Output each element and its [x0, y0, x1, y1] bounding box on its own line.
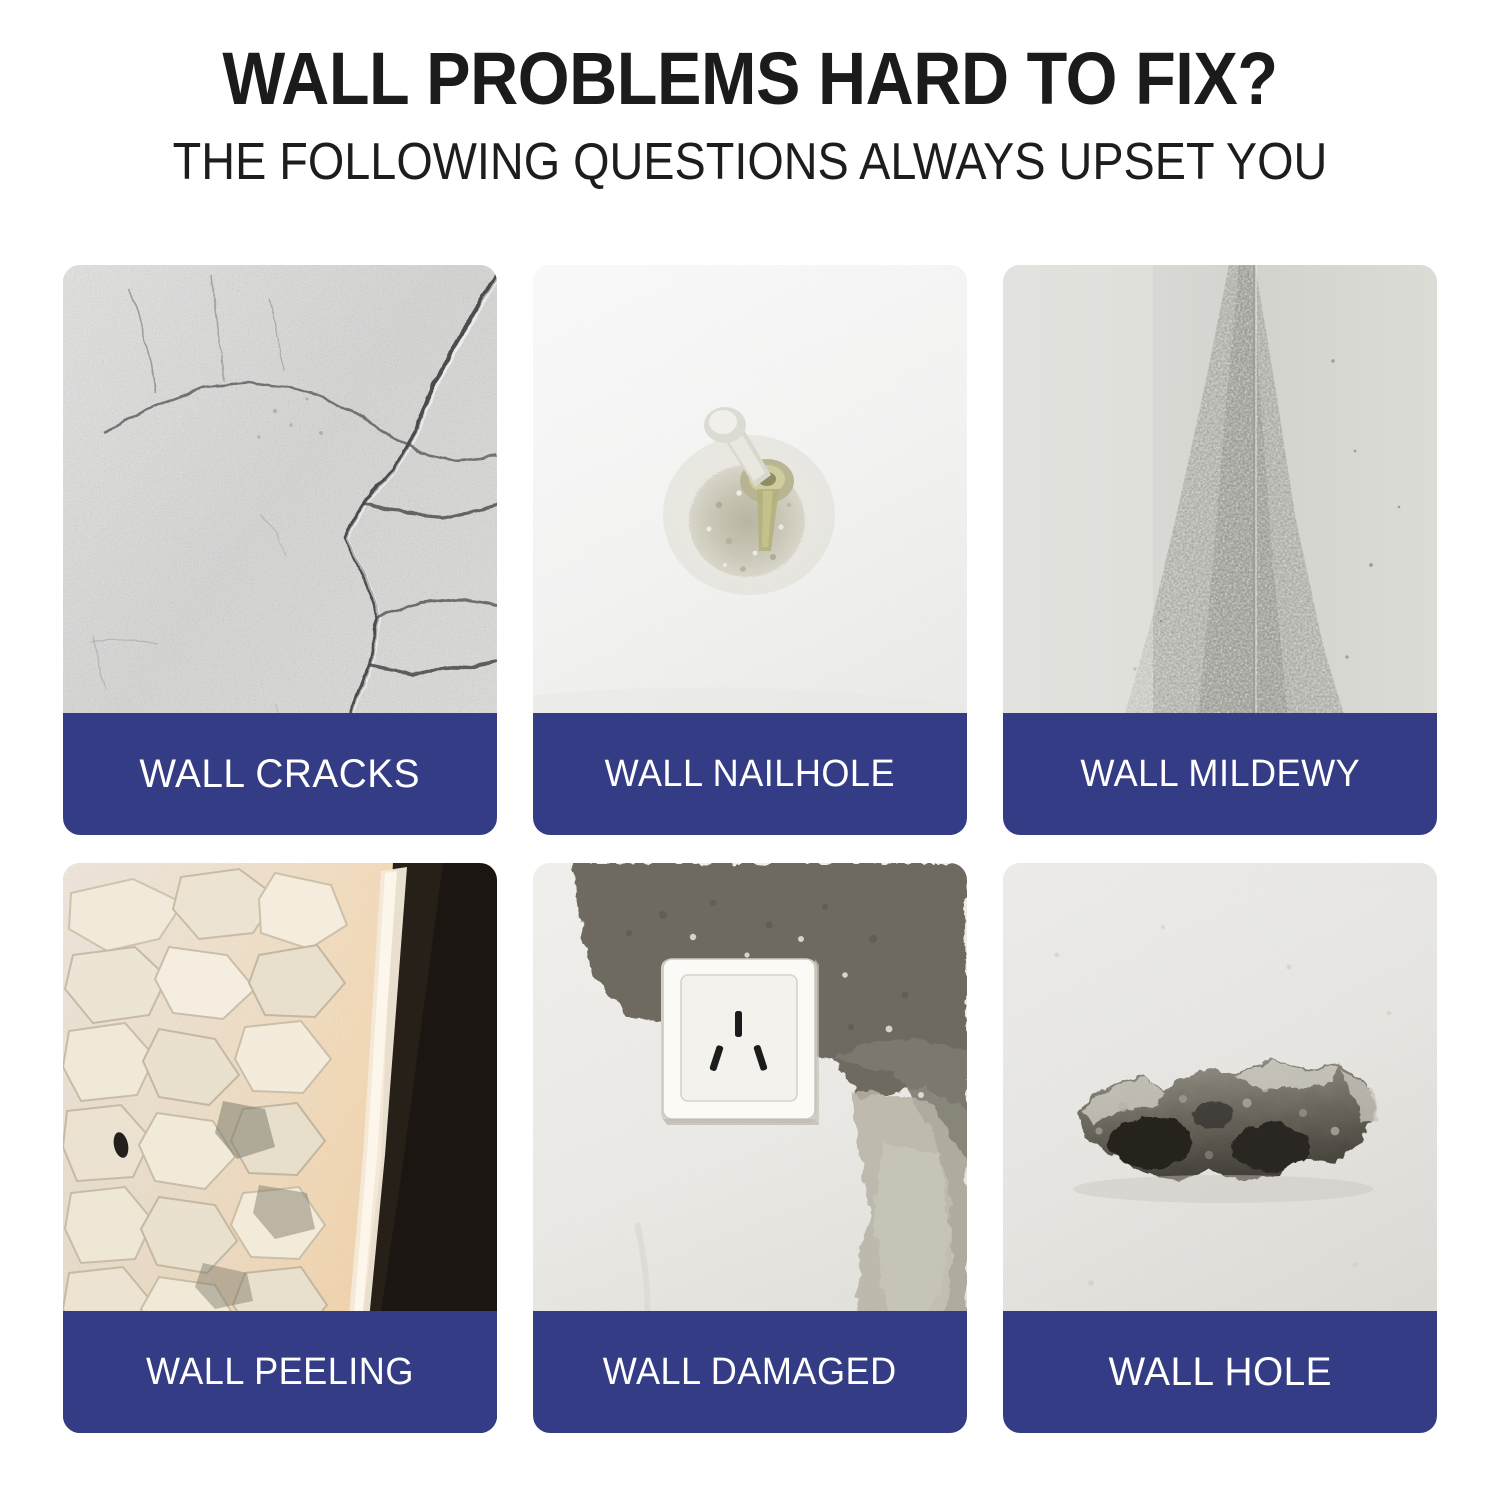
card-wall-cracks[interactable]: WALL CRACKS: [63, 265, 497, 835]
card-label-wall-hole: WALL HOLE: [1003, 1311, 1437, 1433]
card-label-wall-nailhole: WALL NAILHOLE: [533, 713, 967, 835]
card-label-wall-cracks: WALL CRACKS: [63, 713, 497, 835]
card-label-text: WALL CRACKS: [140, 754, 421, 794]
card-label-text: WALL NAILHOLE: [605, 755, 895, 793]
card-label-wall-damaged: WALL DAMAGED: [533, 1311, 967, 1433]
problem-card-grid: WALL CRACKS: [63, 265, 1437, 1433]
card-wall-damaged[interactable]: WALL DAMAGED: [533, 863, 967, 1433]
card-label-text: WALL DAMAGED: [603, 1353, 897, 1391]
header: WALL PROBLEMS HARD TO FIX? THE FOLLOWING…: [0, 0, 1500, 188]
page-subtitle: THE FOLLOWING QUESTIONS ALWAYS UPSET YOU: [75, 116, 1425, 188]
card-wall-nailhole[interactable]: WALL NAILHOLE: [533, 265, 967, 835]
card-label-wall-mildewy: WALL MILDEWY: [1003, 713, 1437, 835]
card-wall-hole[interactable]: WALL HOLE: [1003, 863, 1437, 1433]
infographic-page: WALL PROBLEMS HARD TO FIX? THE FOLLOWING…: [0, 0, 1500, 1500]
card-label-wall-peeling: WALL PEELING: [63, 1311, 497, 1433]
card-label-text: WALL HOLE: [1108, 1352, 1332, 1392]
card-wall-mildewy[interactable]: WALL MILDEWY: [1003, 265, 1437, 835]
card-label-text: WALL MILDEWY: [1080, 755, 1360, 793]
page-title: WALL PROBLEMS HARD TO FIX?: [75, 0, 1425, 116]
card-wall-peeling[interactable]: WALL PEELING: [63, 863, 497, 1433]
card-label-text: WALL PEELING: [146, 1353, 414, 1391]
